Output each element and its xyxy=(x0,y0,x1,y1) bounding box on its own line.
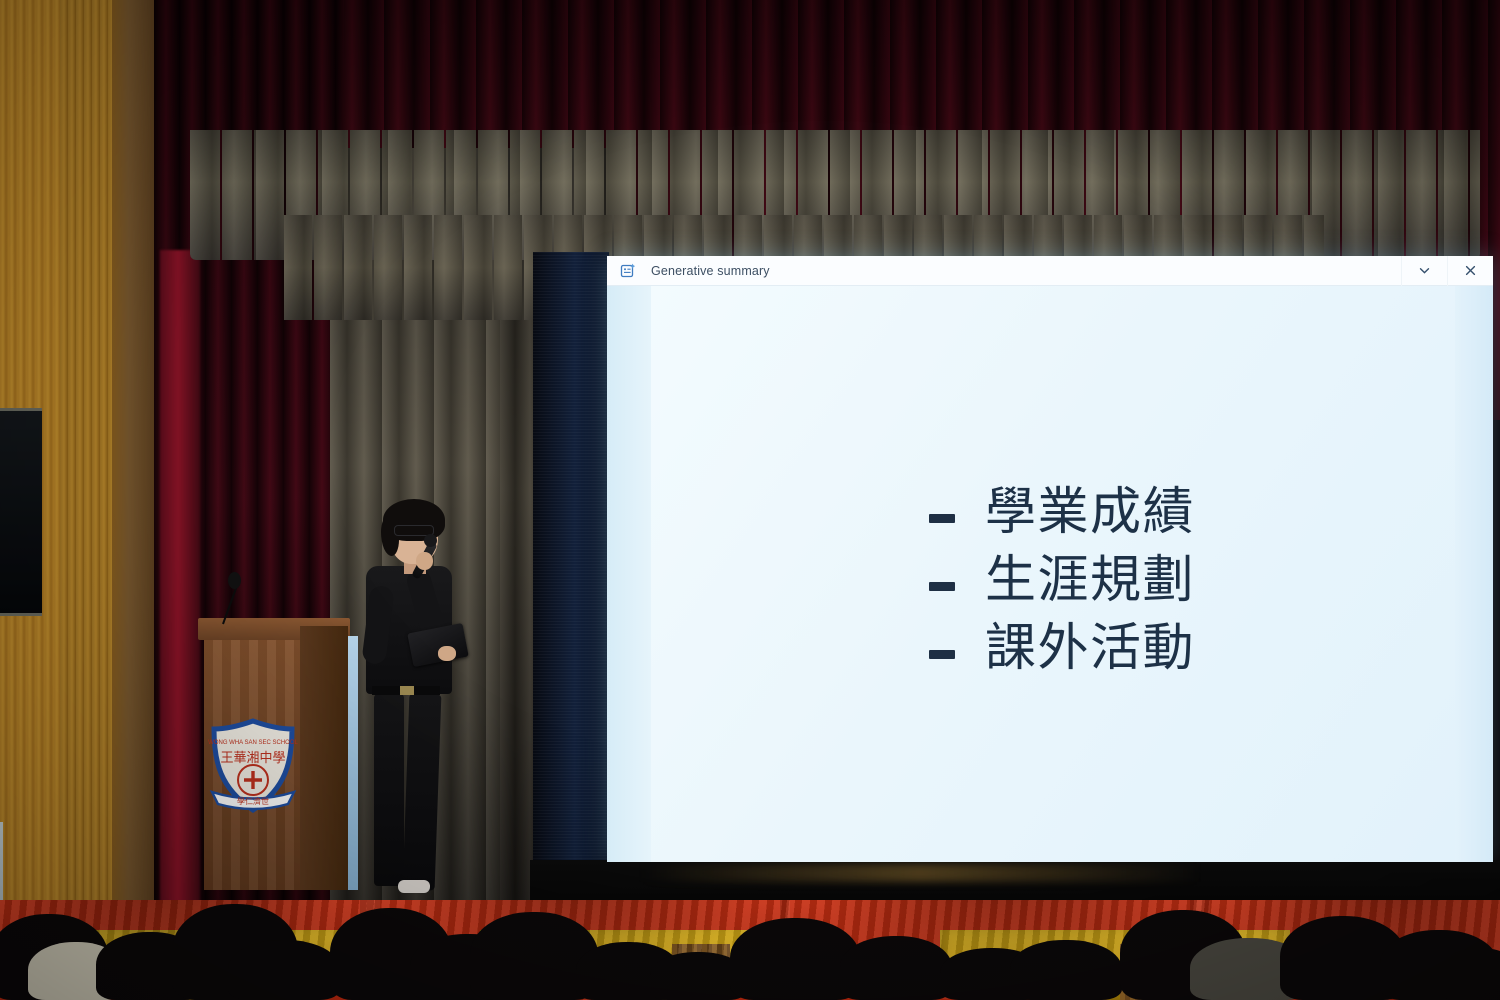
speaker-hair-side xyxy=(381,516,399,556)
bullet-label: 生涯規劃 xyxy=(985,550,1195,612)
list-item: 課外活動 xyxy=(929,618,1195,680)
wall-mounted-display xyxy=(0,408,42,616)
svg-text:王華湘中學: 王華湘中學 xyxy=(220,751,285,766)
wood-panel-wall-secondary xyxy=(60,0,112,905)
generative-summary-icon xyxy=(619,262,637,280)
podium-microphone-icon xyxy=(228,572,241,589)
podium-side xyxy=(300,626,348,890)
projection-screen: Generative summary 學業成績 xyxy=(607,256,1493,862)
audience-head xyxy=(228,940,340,1000)
window-titlebar: Generative summary xyxy=(607,256,1493,286)
podium-light-strip xyxy=(348,636,358,890)
speaker-hand-left xyxy=(438,646,456,661)
audience-head xyxy=(1010,940,1122,1000)
school-crest: WONG WHA SAN SEC SCHOOL 王華湘中學 學仁濟世 xyxy=(206,718,300,814)
bullet-dash-icon xyxy=(929,514,955,523)
close-icon[interactable] xyxy=(1447,256,1493,286)
speaker-shoe xyxy=(398,880,430,893)
red-curtain-edge xyxy=(160,250,200,905)
speaker-leg xyxy=(374,694,404,886)
speaker-hand-right xyxy=(416,552,433,570)
svg-text:WONG WHA SAN SEC SCHOOL: WONG WHA SAN SEC SCHOOL xyxy=(208,740,298,746)
audience-head xyxy=(1440,948,1500,1000)
audience-head xyxy=(840,936,952,1000)
speaker-leg xyxy=(403,694,442,891)
list-item: 生涯規劃 xyxy=(929,550,1195,612)
list-item: 學業成績 xyxy=(929,482,1195,544)
window-title: Generative summary xyxy=(651,264,770,278)
left-side-panel xyxy=(607,286,651,862)
svg-text:學仁濟世: 學仁濟世 xyxy=(237,796,269,806)
right-side-panel xyxy=(1455,286,1493,862)
bullet-dash-icon xyxy=(929,650,955,659)
wood-column xyxy=(112,0,154,905)
handheld-microphone-head xyxy=(424,534,437,547)
summary-bullet-list: 學業成績 生涯規劃 課外活動 xyxy=(929,482,1195,687)
window-body: 學業成績 生涯規劃 課外活動 xyxy=(607,286,1493,862)
summary-content-pane: 學業成績 生涯規劃 課外活動 xyxy=(651,286,1455,862)
bullet-label: 課外活動 xyxy=(985,618,1195,680)
chevron-down-icon[interactable] xyxy=(1401,256,1447,286)
auditorium-photo: Generative summary 學業成績 xyxy=(0,0,1500,1000)
dark-blue-screen-border xyxy=(533,252,609,862)
stage-apron-sheen xyxy=(640,864,1200,882)
bullet-dash-icon xyxy=(929,582,955,591)
speaker-belt-buckle xyxy=(400,686,414,695)
bullet-label: 學業成績 xyxy=(985,482,1195,544)
